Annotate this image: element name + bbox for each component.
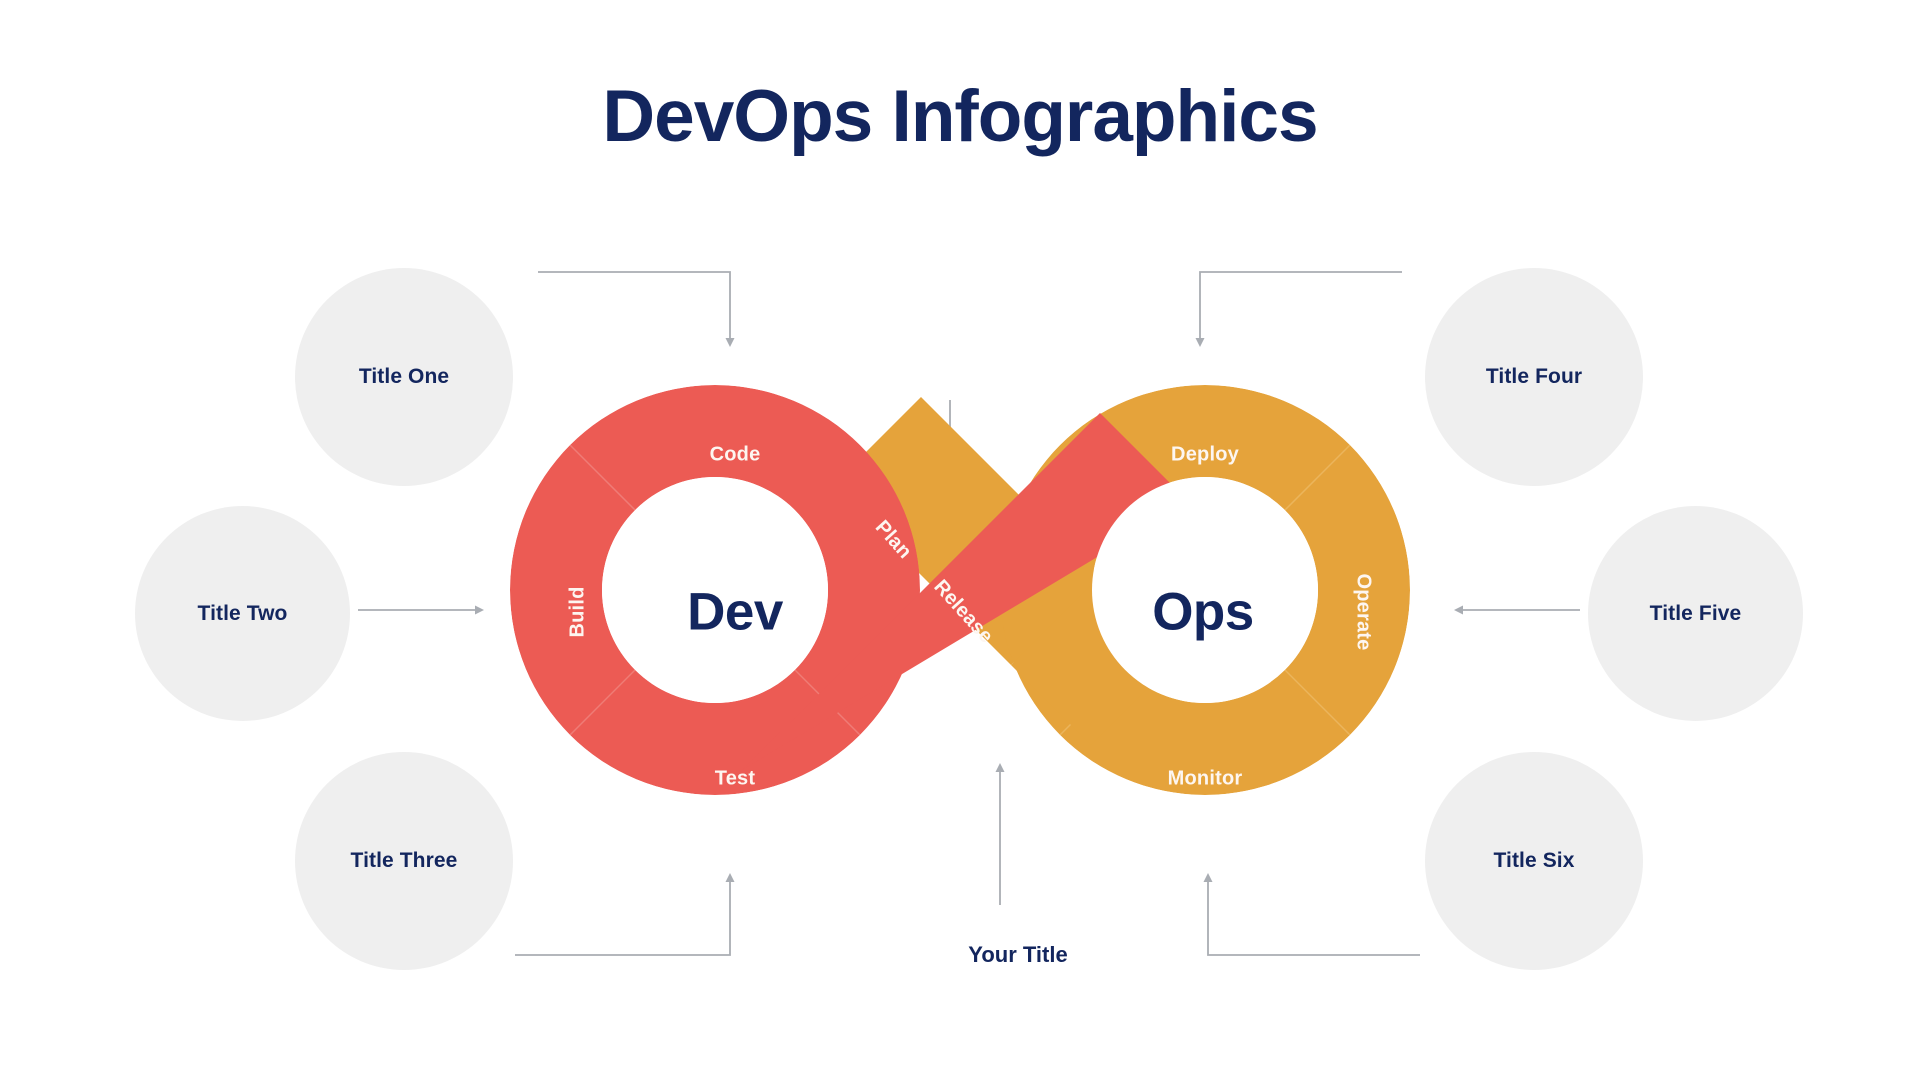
segment-label-code: Code [710, 444, 761, 467]
bubble-title-five[interactable]: Title Five [1588, 506, 1803, 721]
connector-title-six [1208, 875, 1420, 955]
bubble-label-six: Title Six [1493, 849, 1574, 873]
dev-core-label: Dev [687, 582, 783, 643]
bubble-label-two: Title Two [198, 602, 288, 626]
segment-label-deploy: Deploy [1171, 444, 1239, 467]
connector-title-three [515, 875, 730, 955]
bottom-title: Your Title [968, 942, 1067, 968]
segment-label-build: Build [567, 587, 590, 638]
segment-label-test: Test [715, 768, 755, 791]
bubble-title-four[interactable]: Title Four [1425, 268, 1643, 486]
infographic-canvas: DevOps Infographics [0, 0, 1920, 1080]
connector-title-one [538, 272, 730, 345]
devops-infinity-loop [480, 355, 1440, 825]
bubble-label-three: Title Three [351, 849, 458, 873]
bubble-title-six[interactable]: Title Six [1425, 752, 1643, 970]
page-title: DevOps Infographics [0, 80, 1920, 153]
ops-core-label: Ops [1152, 582, 1254, 643]
bubble-label-five: Title Five [1650, 602, 1742, 626]
segment-label-operate: Operate [1352, 574, 1375, 651]
segment-label-monitor: Monitor [1168, 768, 1243, 791]
bubble-label-one: Title One [359, 365, 449, 389]
bubble-title-three[interactable]: Title Three [295, 752, 513, 970]
bubble-label-four: Title Four [1486, 365, 1582, 389]
bubble-title-two[interactable]: Title Two [135, 506, 350, 721]
connector-title-four [1200, 272, 1402, 345]
bubble-title-one[interactable]: Title One [295, 268, 513, 486]
